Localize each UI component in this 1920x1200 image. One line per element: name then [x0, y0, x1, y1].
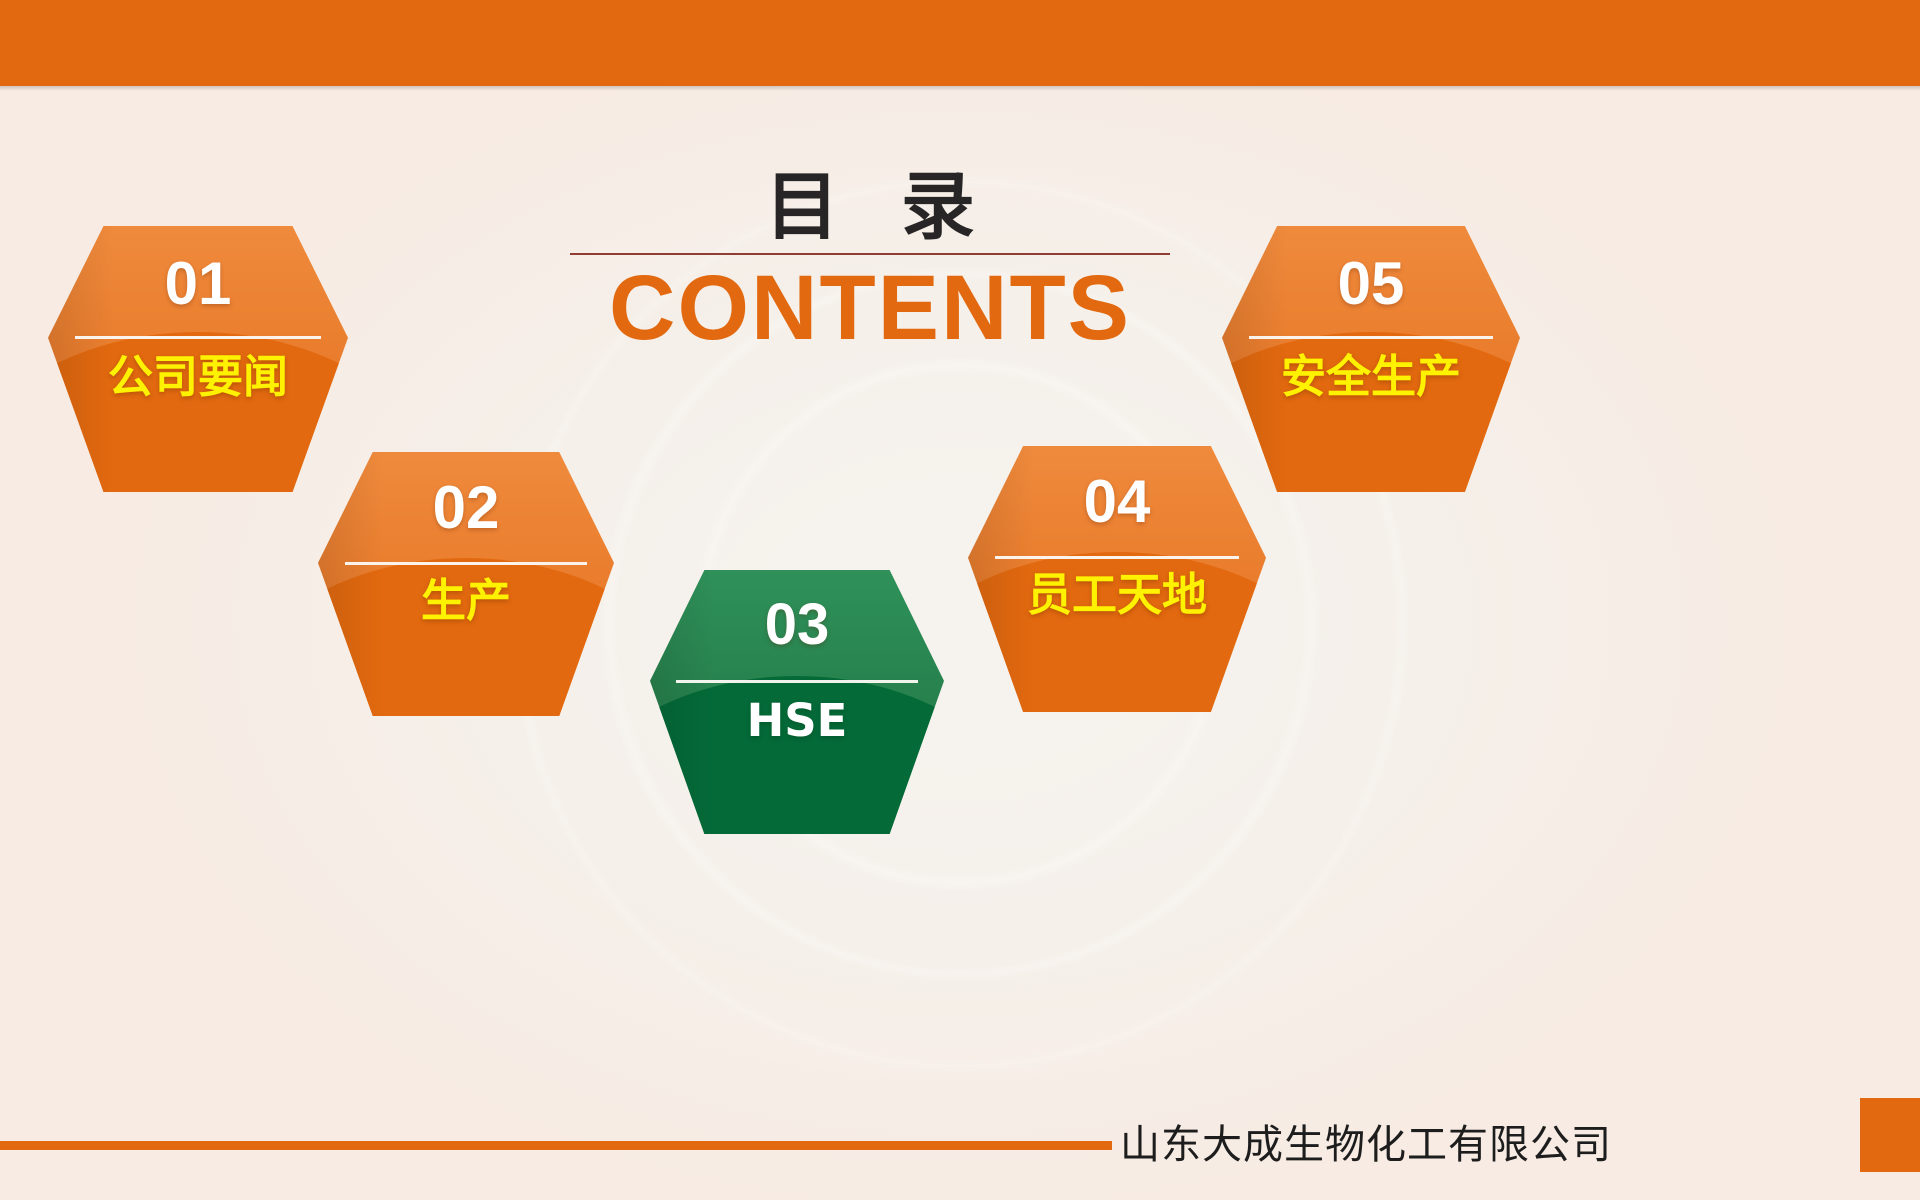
hexagon-section-01[interactable]: 01 公司要闻 — [48, 226, 348, 492]
page-title-cn: 目 录 — [560, 170, 1180, 245]
hexagon-section-03[interactable]: 03 HSE — [650, 570, 944, 834]
page-title-en: CONTENTS — [560, 259, 1180, 358]
hexagon-label: 公司要闻 — [48, 354, 348, 399]
footer-accent-block — [1860, 1098, 1920, 1172]
hexagon-section-05[interactable]: 05 安全生产 — [1222, 226, 1520, 492]
top-banner-bar — [0, 0, 1920, 86]
hexagon-divider-line — [995, 556, 1239, 559]
hexagon-divider-line — [75, 336, 321, 339]
hexagon-number: 05 — [1222, 254, 1520, 314]
contents-slide: 目 录 CONTENTS 01 公司要闻 02 生产 — [0, 0, 1920, 1200]
hexagon-label: 安全生产 — [1222, 354, 1520, 399]
title-block: 目 录 CONTENTS — [560, 170, 1180, 359]
footer-rule — [0, 1141, 1112, 1150]
hexagon-section-02[interactable]: 02 生产 — [318, 452, 614, 716]
hexagon-label: HSE — [650, 698, 944, 743]
hexagon-label: 生产 — [318, 578, 614, 623]
title-divider-rule — [570, 253, 1170, 255]
hexagon-number: 02 — [318, 478, 614, 538]
hexagon-label: 员工天地 — [968, 572, 1266, 617]
footer-company-name: 山东大成生物化工有限公司 — [1120, 1108, 1780, 1174]
hexagon-divider-line — [676, 680, 917, 683]
hexagon-number: 03 — [650, 596, 944, 654]
hexagon-divider-line — [1249, 336, 1493, 339]
hexagon-divider-line — [345, 562, 588, 565]
hexagon-number: 01 — [48, 254, 348, 314]
top-banner-shadow — [0, 86, 1920, 91]
